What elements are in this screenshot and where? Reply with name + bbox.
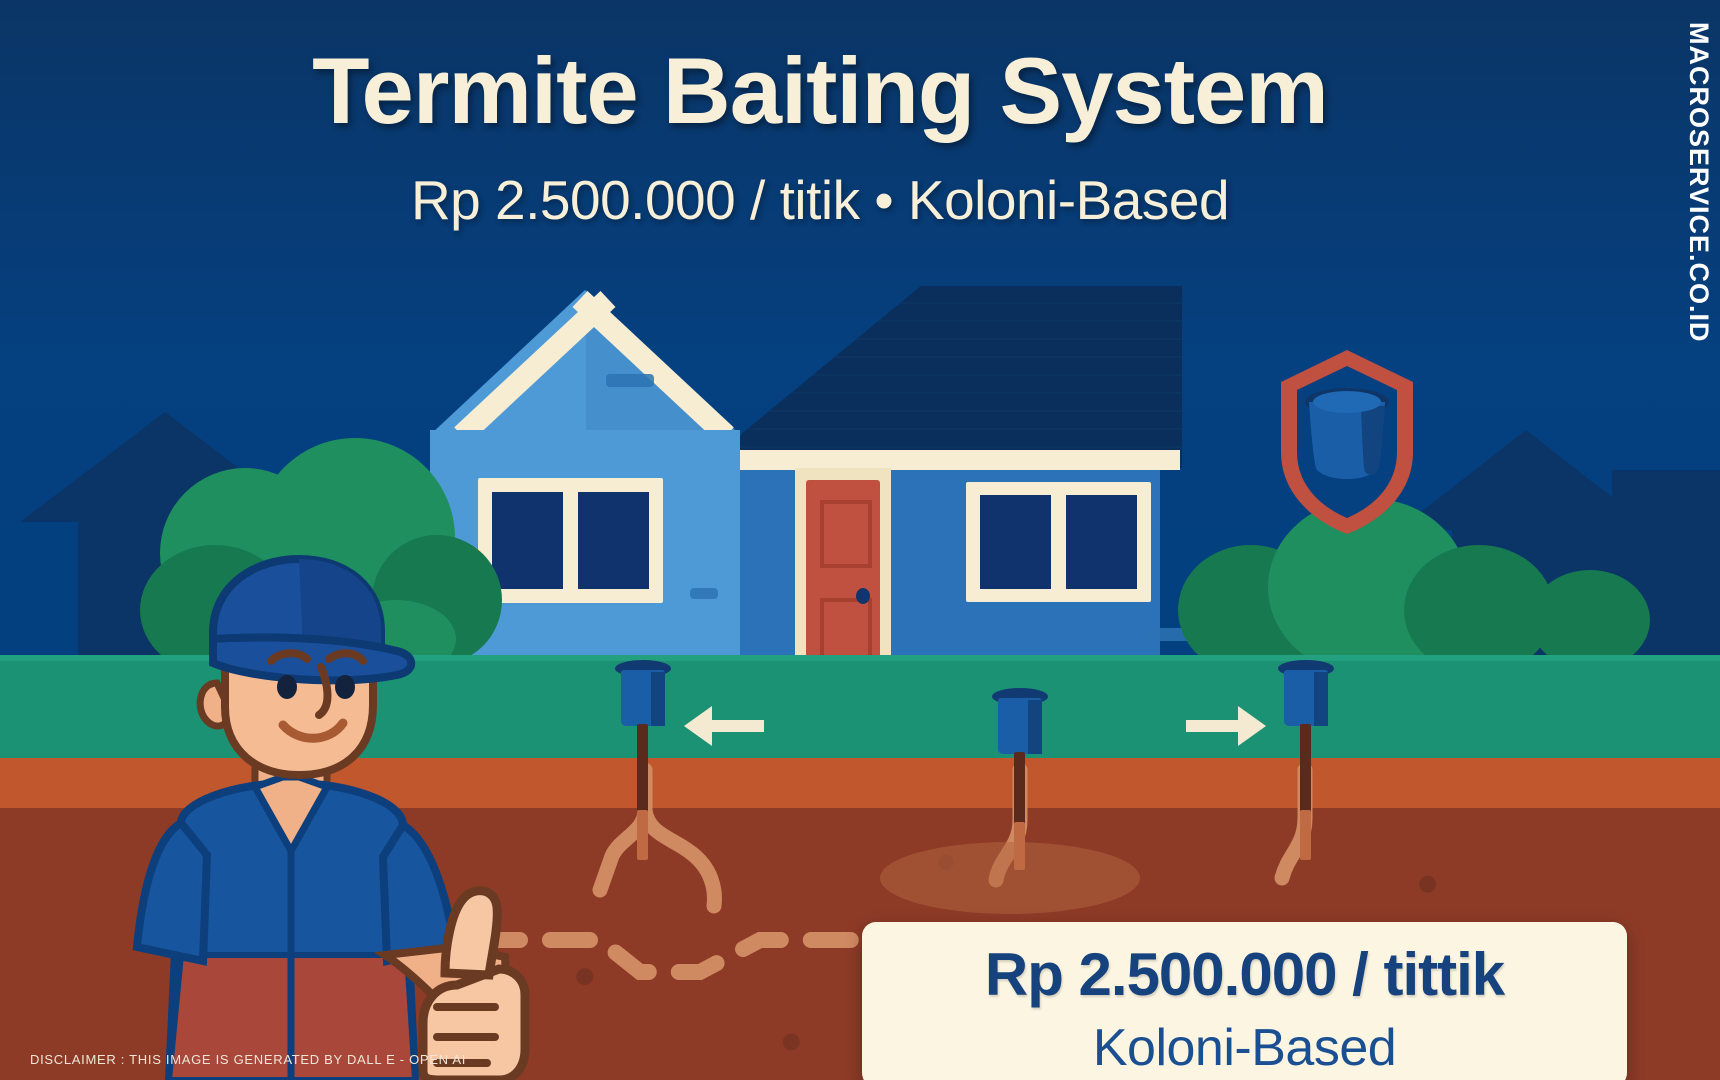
- bait-station-left[interactable]: [615, 660, 671, 860]
- page-subtitle: Rp 2.500.000 / titik • Koloni-Based: [0, 168, 1640, 232]
- price-card-method: Koloni-Based: [862, 1018, 1627, 1078]
- protection-shield-icon: [1277, 348, 1417, 536]
- site-watermark: MACROSERVICE.CO.ID: [1683, 22, 1714, 442]
- arrow-left-icon: [682, 702, 764, 750]
- page-title: Termite Baiting System: [0, 42, 1640, 141]
- pest-control-technician: [85, 555, 545, 1080]
- door-panel: [820, 500, 872, 568]
- arrow-right-icon: [1186, 702, 1268, 750]
- poster-canvas: Termite Baiting System Rp 2.500.000 / ti…: [0, 0, 1720, 1080]
- price-card: Rp 2.500.000 / tittik Koloni-Based: [862, 922, 1627, 1080]
- bait-station-center[interactable]: [992, 688, 1048, 868]
- window-right: [966, 482, 1151, 602]
- disclaimer-text: DISCLAIMER : THIS IMAGE IS GENERATED BY …: [30, 1052, 466, 1067]
- door-knob-icon: [856, 588, 870, 604]
- bait-station-right[interactable]: [1278, 660, 1334, 860]
- price-card-amount: Rp 2.500.000 / tittik: [862, 940, 1627, 1009]
- wall-vent-left: [690, 588, 718, 599]
- eave-band: [740, 450, 1180, 470]
- gable-vent: [606, 374, 654, 387]
